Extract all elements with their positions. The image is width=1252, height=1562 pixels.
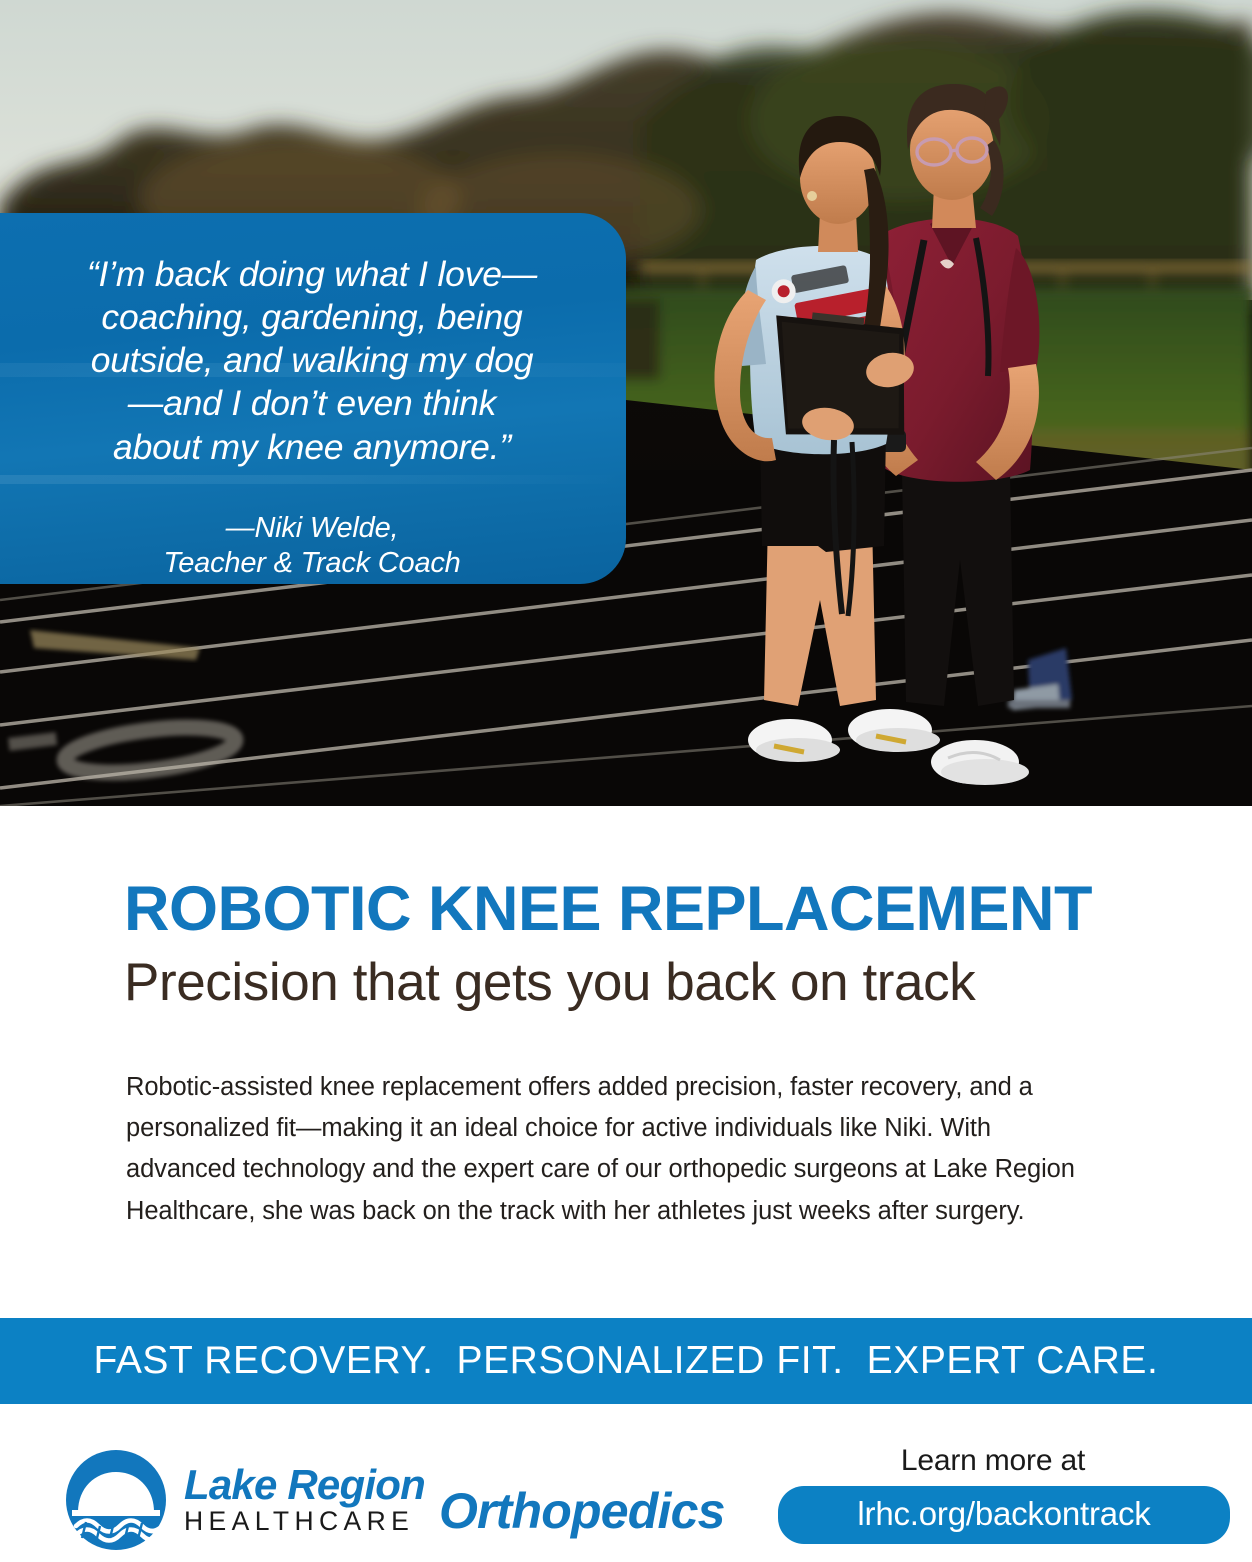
tagline-bar: FAST RECOVERY. PERSONALIZED FIT. EXPERT … — [0, 1318, 1252, 1404]
cta-label: Learn more at — [762, 1446, 1230, 1476]
testimonial-quote-text: “I’m back doing what I love— coaching, g… — [32, 253, 592, 469]
testimonial-quote-card: “I’m back doing what I love— coaching, g… — [0, 213, 626, 584]
brand-name-line2: HEALTHCARE — [184, 1507, 425, 1537]
footer: Lake Region HEALTHCARE Orthopedics Learn… — [0, 1404, 1252, 1562]
page-title: ROBOTIC KNEE REPLACEMENT — [0, 878, 1252, 941]
service-line-label: Orthopedics — [439, 1482, 725, 1540]
cta-url-button[interactable]: lrhc.org/backontrack — [778, 1486, 1230, 1544]
page-subtitle: Precision that gets you back on track — [0, 955, 1252, 1011]
brand-name-line1: Lake Region — [184, 1464, 425, 1505]
cta-block: Learn more at lrhc.org/backontrack — [762, 1446, 1230, 1544]
testimonial-attribution: —Niki Welde, Teacher & Track Coach — [32, 511, 592, 582]
body-paragraph: Robotic-assisted knee replacement offers… — [0, 1067, 1252, 1232]
brand-logo: Lake Region HEALTHCARE Orthopedics — [62, 1448, 725, 1552]
hero-photo: “I’m back doing what I love— coaching, g… — [0, 0, 1252, 806]
lake-region-sun-wave-mark-icon — [62, 1448, 170, 1552]
main-content: ROBOTIC KNEE REPLACEMENT Precision that … — [0, 806, 1252, 1232]
brand-wordmark: Lake Region HEALTHCARE — [184, 1464, 425, 1537]
tagline-text: FAST RECOVERY. PERSONALIZED FIT. EXPERT … — [0, 1318, 1252, 1404]
